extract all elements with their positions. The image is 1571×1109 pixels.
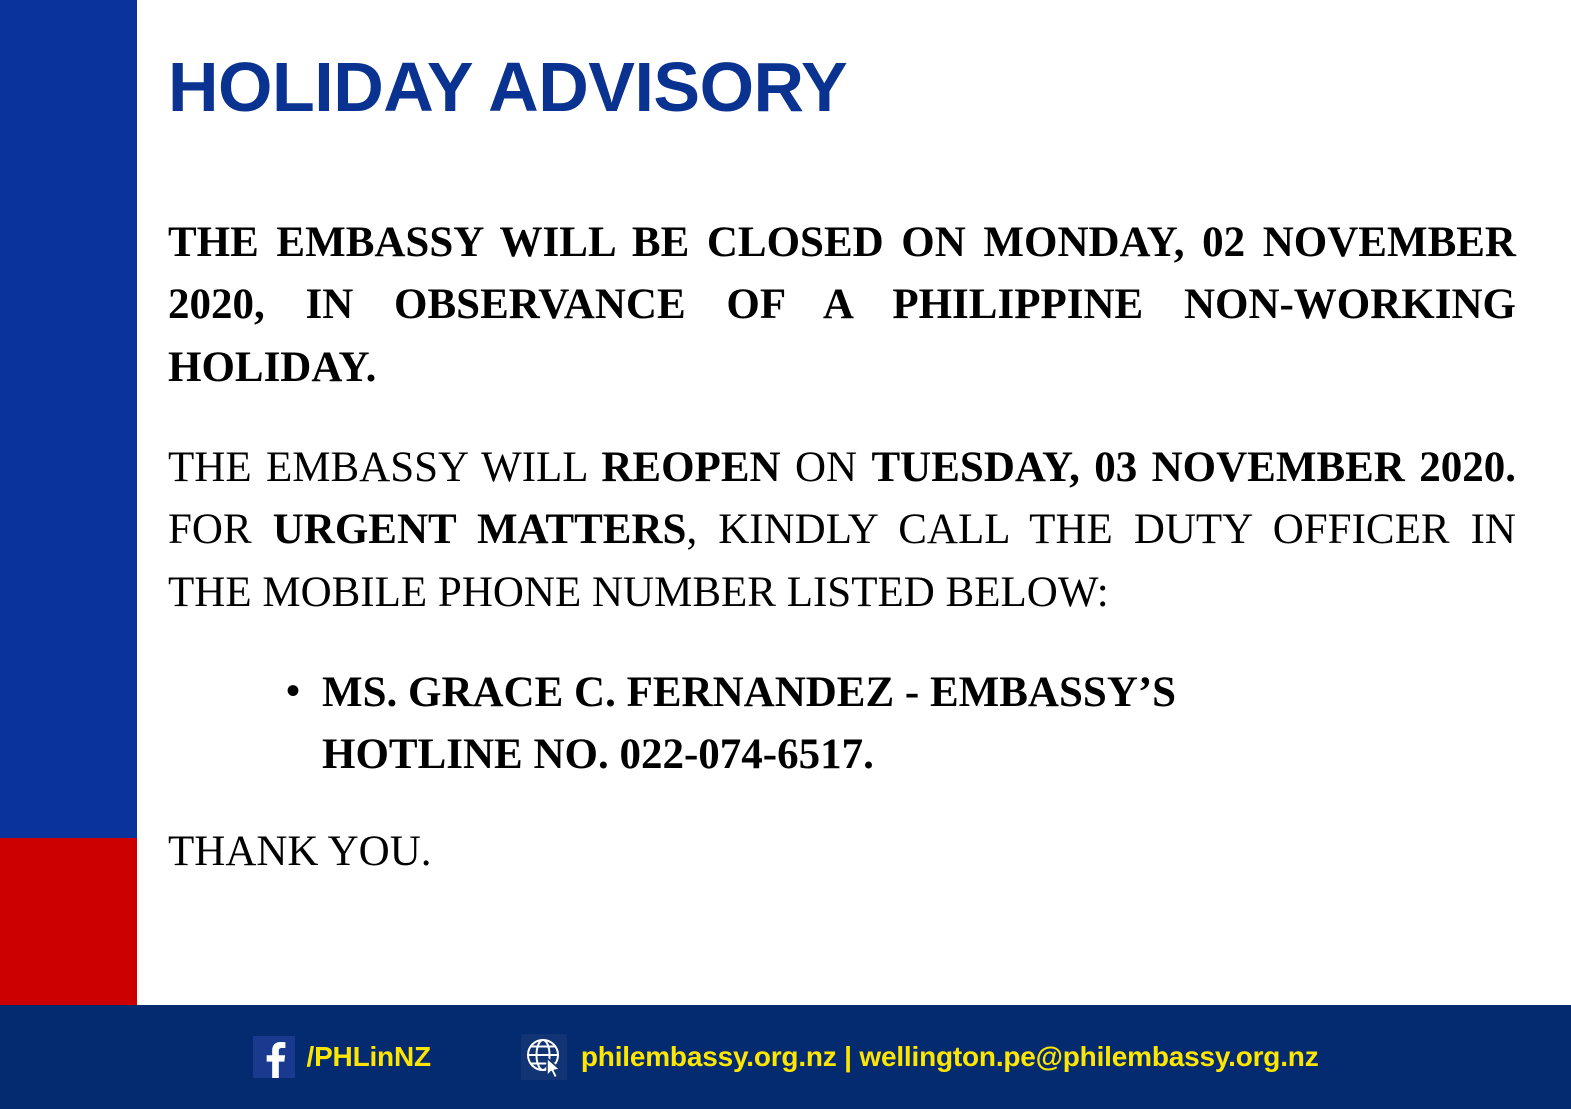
page-title: HOLIDAY ADVISORY <box>168 52 847 122</box>
footer-web-group[interactable]: philembassy.org.nz | wellington.pe@phile… <box>521 1034 1319 1080</box>
facebook-icon <box>253 1036 295 1078</box>
reopen-seg-5: FOR <box>168 506 273 553</box>
facebook-handle: /PHLinNZ <box>307 1041 431 1073</box>
reopen-keyword: REOPEN <box>601 444 780 491</box>
footer-bar: /PHLinNZ philembassy.org.nz | wellington… <box>0 1005 1571 1109</box>
web-contact: philembassy.org.nz | wellington.pe@phile… <box>581 1041 1319 1073</box>
reopen-seg-3: ON <box>781 444 872 491</box>
globe-cursor-icon <box>521 1034 567 1080</box>
paragraph-closure-notice: THE EMBASSY WILL BE CLOSED ON MONDAY, 02… <box>168 212 1516 399</box>
footer-content: /PHLinNZ philembassy.org.nz | wellington… <box>0 1005 1571 1109</box>
reopen-date: TUESDAY, 03 NOVEMBER 2020. <box>871 444 1516 491</box>
paragraph-reopen-notice: THE EMBASSY WILL REOPEN ON TUESDAY, 03 N… <box>168 437 1516 624</box>
contact-list: MS. GRACE C. FERNANDEZ - EMBASSY’S HOTLI… <box>168 662 1516 787</box>
flag-stripe-blue <box>0 0 137 838</box>
content-column: HOLIDAY ADVISORY THE EMBASSY WILL BE CLO… <box>168 0 1516 1005</box>
list-item: MS. GRACE C. FERNANDEZ - EMBASSY’S HOTLI… <box>286 662 1382 787</box>
flag-stripe-red <box>0 838 137 1005</box>
reopen-seg-1: THE EMBASSY WILL <box>168 444 601 491</box>
urgent-matters-keyword: URGENT MATTERS <box>273 506 687 553</box>
footer-facebook-group[interactable]: /PHLinNZ <box>253 1036 431 1078</box>
holiday-advisory-poster: HOLIDAY ADVISORY THE EMBASSY WILL BE CLO… <box>0 0 1571 1109</box>
advisory-body: THE EMBASSY WILL BE CLOSED ON MONDAY, 02… <box>168 212 1516 883</box>
flag-stripe <box>0 0 137 1005</box>
closing-text: THANK YOU. <box>168 821 1516 883</box>
